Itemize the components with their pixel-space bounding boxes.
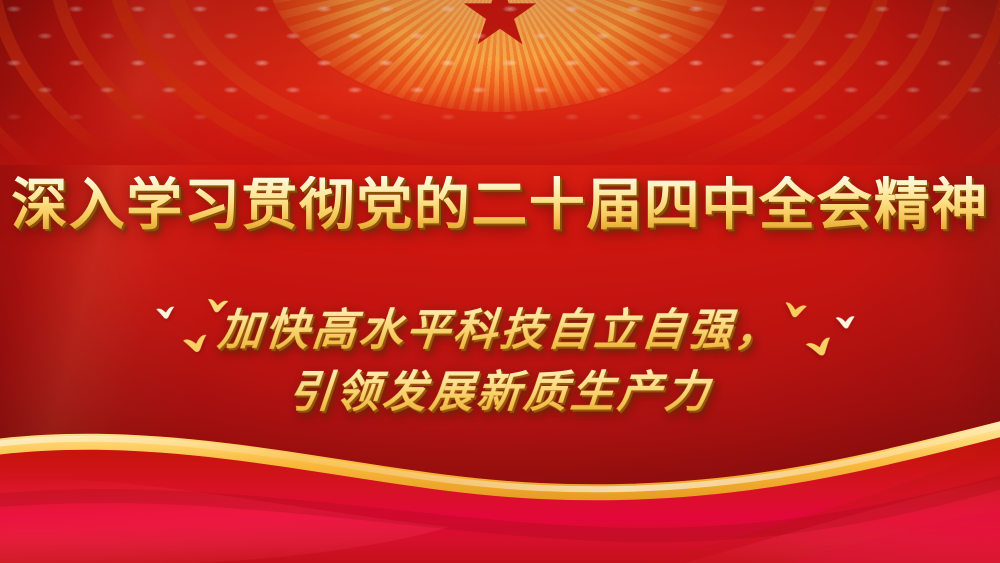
page-title: 深入学习贯彻党的二十届四中全会精神	[11, 176, 989, 235]
bottom-drapery	[0, 377, 1000, 563]
title-block: 深入学习贯彻党的二十届四中全会精神	[0, 176, 1000, 235]
poster-canvas: 深入学习贯彻党的二十届四中全会精神 加快高水平科技自立自强， 引领发展新	[0, 0, 1000, 563]
subtitle-line-1: 加快高水平科技自立自强，	[0, 300, 1000, 362]
